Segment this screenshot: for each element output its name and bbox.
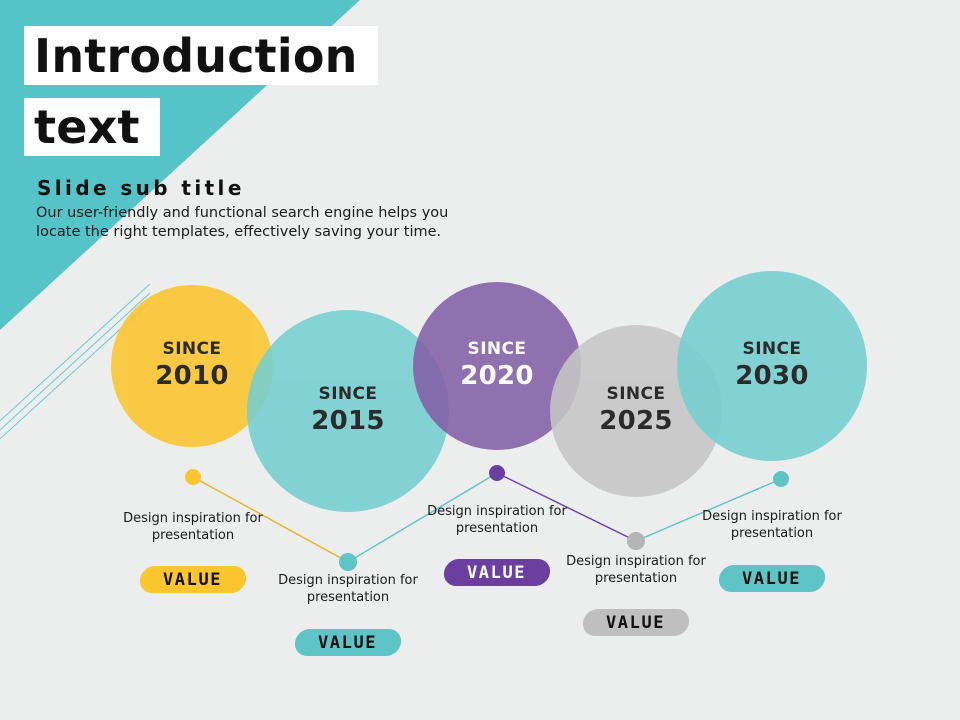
milestone-since-label: SINCE (319, 385, 378, 405)
value-pill-label: VALUE (467, 563, 526, 583)
caption-text: Design inspiration for presentation (561, 553, 711, 588)
milestone-year: 2015 (311, 405, 385, 438)
value-pill-label: VALUE (606, 613, 665, 633)
slide-title-line-2-text: text (24, 104, 140, 150)
value-pill-label: VALUE (163, 570, 222, 590)
milestone-year: 2025 (599, 405, 673, 438)
milestone-year: 2030 (735, 360, 809, 393)
value-pill[interactable]: VALUE (294, 629, 403, 656)
value-pill[interactable]: VALUE (718, 565, 827, 592)
slide-title-line-1-text: Introduction (24, 33, 358, 79)
caption-text: Design inspiration for presentation (118, 510, 268, 545)
slide-canvas: Introduction text Slide sub title Our us… (0, 0, 960, 720)
milestone-year: 2010 (155, 360, 229, 393)
value-pill[interactable]: VALUE (443, 559, 552, 586)
value-pill-label: VALUE (742, 569, 801, 589)
caption-text: Design inspiration for presentation (697, 508, 847, 543)
slide-subtitle: Slide sub title (37, 176, 245, 200)
milestone-year: 2020 (460, 360, 534, 393)
milestone-since-label: SINCE (163, 340, 222, 360)
milestone-since-label: SINCE (743, 340, 802, 360)
slide-description: Our user-friendly and functional search … (36, 204, 466, 243)
slide-title-line-2: text (24, 98, 160, 156)
milestone-since-label: SINCE (468, 340, 527, 360)
caption-text: Design inspiration for presentation (422, 503, 572, 538)
milestone-circle-2030[interactable]: SINCE2030 (677, 271, 867, 461)
value-pill[interactable]: VALUE (582, 609, 691, 636)
slide-title-line-1: Introduction (24, 26, 378, 85)
value-pill[interactable]: VALUE (139, 566, 248, 593)
value-pill-label: VALUE (318, 633, 377, 653)
milestone-since-label: SINCE (607, 385, 666, 405)
caption-text: Design inspiration for presentation (273, 572, 423, 607)
